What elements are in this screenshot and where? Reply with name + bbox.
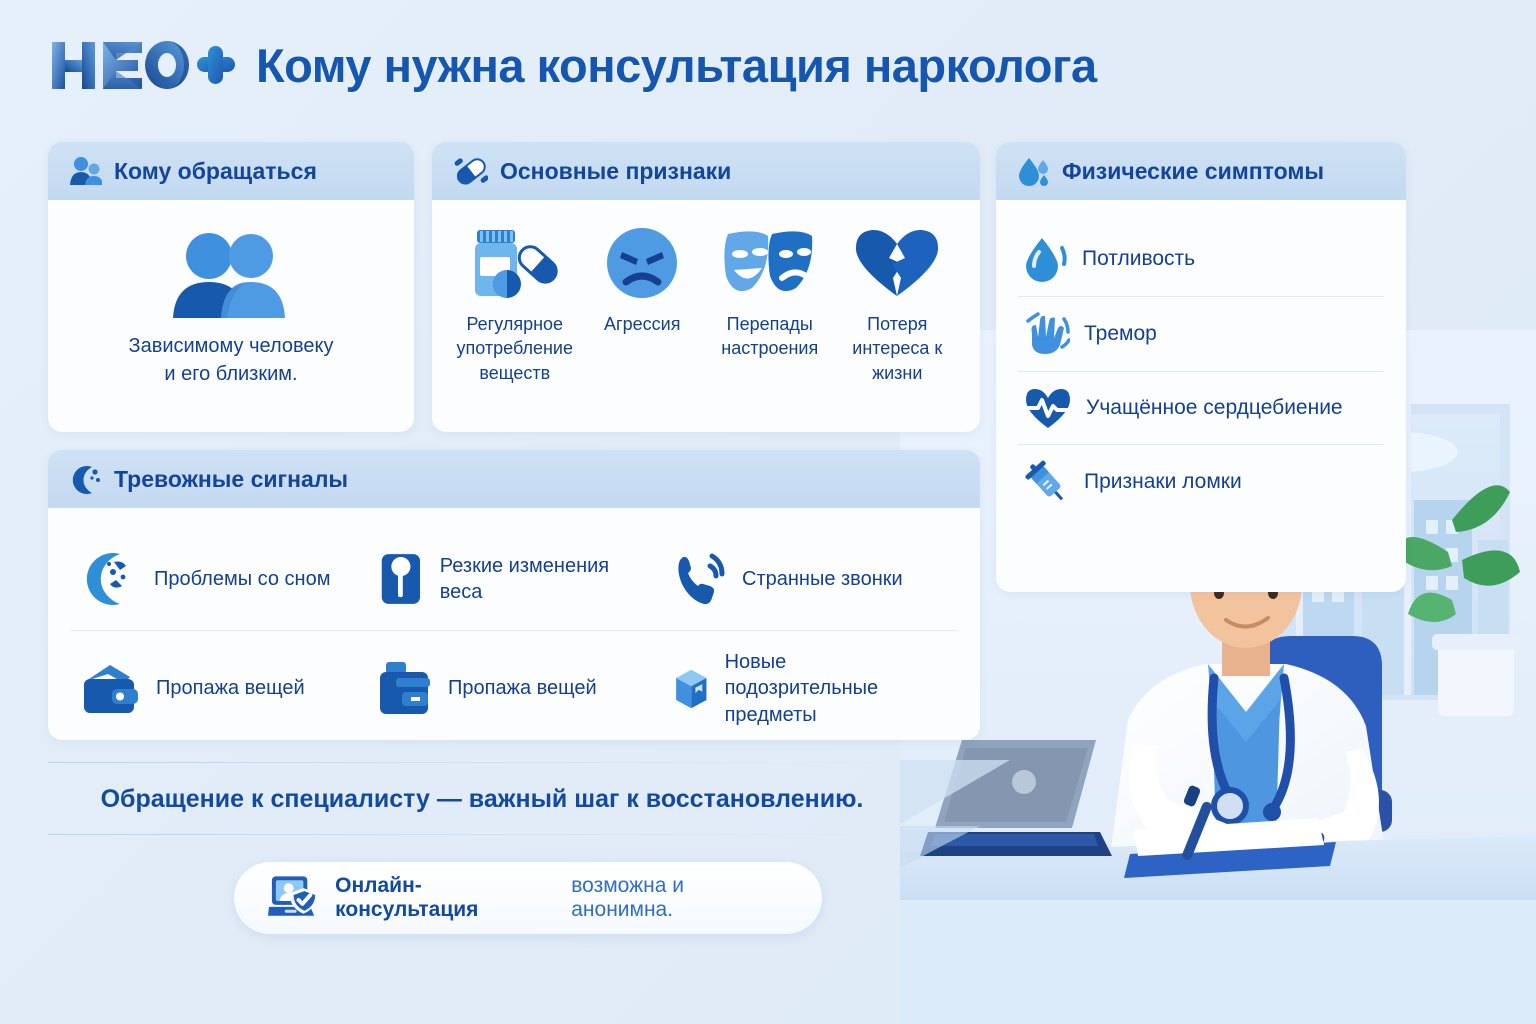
water-drop-icon bbox=[1024, 236, 1068, 282]
briefcase-icon bbox=[376, 660, 434, 718]
footer-divider-bottom bbox=[48, 834, 916, 835]
moon-sleep-icon bbox=[80, 550, 140, 608]
sign-label: Потеря интереса к жизни bbox=[837, 312, 959, 385]
alert-item: Пропажа вещей bbox=[366, 630, 662, 740]
page-title: Кому нужна консультация нарколога bbox=[256, 38, 1097, 93]
card-alerts-title: Тревожные сигналы bbox=[114, 466, 348, 493]
physical-label: Потливость bbox=[1082, 246, 1195, 273]
trembling-hand-icon bbox=[1024, 311, 1070, 357]
card-audience-header: Кому обращаться bbox=[48, 142, 414, 200]
badge-strong-text: Онлайн-консультация bbox=[335, 874, 561, 922]
sign-item: Перепады настроения bbox=[709, 226, 831, 385]
neo-plus-logo bbox=[48, 34, 238, 96]
pill-bottle-icon bbox=[467, 226, 563, 300]
physical-row: Признаки ломки bbox=[1018, 444, 1384, 519]
alert-item: Пропажа вещей bbox=[70, 630, 366, 740]
card-physical-header: Физические симптомы bbox=[996, 142, 1406, 200]
footer-band: Обращение к специалисту — важный шаг к в… bbox=[48, 762, 916, 835]
online-consultation-badge[interactable]: Онлайн-консультация возможна и анонимна. bbox=[234, 862, 822, 934]
physical-label: Учащённое сердцебиение bbox=[1086, 395, 1343, 422]
physical-row: Потливость bbox=[1018, 222, 1384, 296]
card-audience: Кому обращаться Зависимому человеку и ег… bbox=[48, 142, 414, 432]
card-audience-body: Зависимому человеку и его близким. bbox=[48, 200, 414, 409]
pill-capsule-icon bbox=[454, 156, 488, 186]
sign-label: Агрессия bbox=[604, 312, 680, 336]
card-audience-text: Зависимому человеку и его близким. bbox=[129, 332, 334, 389]
sign-label: Перепады настроения bbox=[709, 312, 831, 361]
footer-statement: Обращение к специалисту — важный шаг к в… bbox=[48, 763, 916, 834]
card-alerts: Тревожные сигналы Проблемы со сном bbox=[48, 450, 980, 740]
page-header: Кому нужна консультация нарколога bbox=[48, 34, 1097, 96]
card-audience-title: Кому обращаться bbox=[114, 158, 317, 185]
sign-item: Агрессия bbox=[582, 226, 704, 385]
card-signs-header: Основные признаки bbox=[432, 142, 980, 200]
card-alerts-header: Тревожные сигналы bbox=[48, 450, 980, 508]
card-signs: Основные признаки bbox=[432, 142, 980, 432]
physical-label: Признаки ломки bbox=[1084, 469, 1242, 496]
physical-row: Тремор bbox=[1018, 296, 1384, 371]
sign-label: Регулярное употребление веществ bbox=[454, 312, 576, 385]
card-physical: Физические симптомы Потливость Тремор bbox=[996, 142, 1406, 592]
alert-item: Резкие изменения веса bbox=[366, 528, 662, 630]
card-signs-body: Регулярное употребление веществ Агрессия bbox=[432, 200, 980, 405]
alert-label: Пропажа вещей bbox=[156, 675, 305, 701]
moon-icon bbox=[70, 464, 102, 495]
physical-row: Учащённое сердцебиение bbox=[1018, 371, 1384, 444]
alert-label: Пропажа вещей bbox=[448, 675, 597, 701]
card-physical-body: Потливость Тремор Учащённое сердцебиение bbox=[996, 200, 1406, 539]
people-icon bbox=[70, 156, 102, 186]
theater-masks-icon bbox=[720, 226, 820, 300]
scale-icon bbox=[376, 550, 426, 608]
alert-label: Странные звонки bbox=[742, 566, 903, 592]
water-drops-icon bbox=[1018, 156, 1050, 186]
wallet-icon bbox=[80, 661, 142, 717]
phone-call-icon bbox=[672, 550, 728, 608]
sign-item: Потеря интереса к жизни bbox=[837, 226, 959, 385]
alert-item: Новые подозрительные предметы bbox=[662, 630, 958, 740]
angry-face-icon bbox=[598, 226, 686, 300]
alert-label: Новые подозрительные предметы bbox=[725, 649, 944, 728]
card-signs-title: Основные признаки bbox=[500, 158, 731, 185]
online-consult-icon bbox=[268, 874, 319, 922]
physical-label: Тремор bbox=[1084, 321, 1157, 348]
alert-label: Резкие изменения веса bbox=[440, 553, 648, 606]
badge-rest-text: возможна и анонимна. bbox=[571, 874, 788, 922]
alert-label: Проблемы со сном bbox=[154, 566, 330, 592]
alert-item: Проблемы со сном bbox=[70, 528, 366, 630]
two-people-icon bbox=[171, 232, 291, 318]
suspicious-box-icon bbox=[672, 657, 711, 721]
heart-pulse-icon bbox=[1024, 386, 1072, 430]
audience-text-line1: Зависимому человеку bbox=[129, 332, 334, 360]
alert-item: Странные звонки bbox=[662, 528, 958, 630]
card-physical-title: Физические симптомы bbox=[1062, 158, 1324, 185]
card-alerts-body: Проблемы со сном Резкие изменения веса С… bbox=[48, 508, 980, 740]
sign-item: Регулярное употребление веществ bbox=[454, 226, 576, 385]
audience-text-line2: и его близким. bbox=[129, 360, 334, 388]
syringe-icon bbox=[1024, 459, 1070, 505]
broken-heart-icon bbox=[852, 226, 942, 300]
